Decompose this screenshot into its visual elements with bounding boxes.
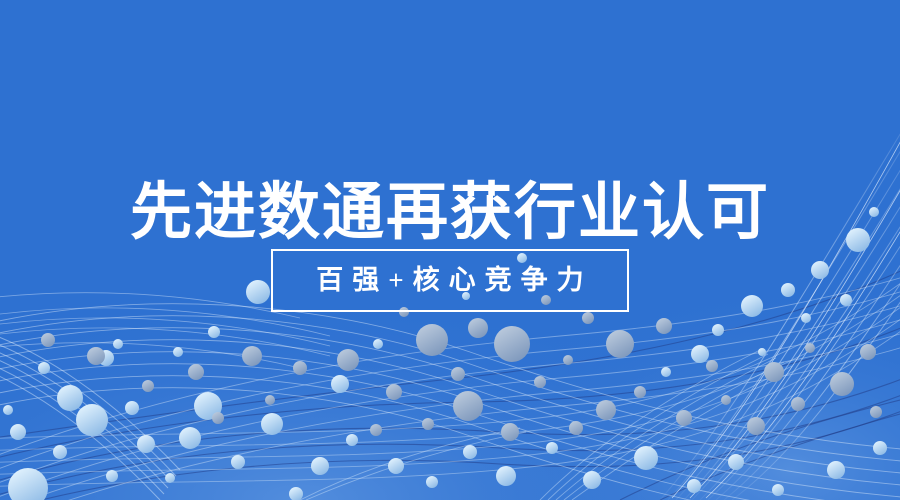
page-title: 先进数通再获行业认可: [0, 182, 900, 244]
subtitle-badge: 百强+核心竞争力: [271, 249, 629, 312]
banner-content: 先进数通再获行业认可 百强+核心竞争力: [0, 0, 900, 500]
subtitle-text: 百强+核心竞争力: [307, 267, 592, 294]
promo-banner: 先进数通再获行业认可 百强+核心竞争力: [0, 0, 900, 500]
